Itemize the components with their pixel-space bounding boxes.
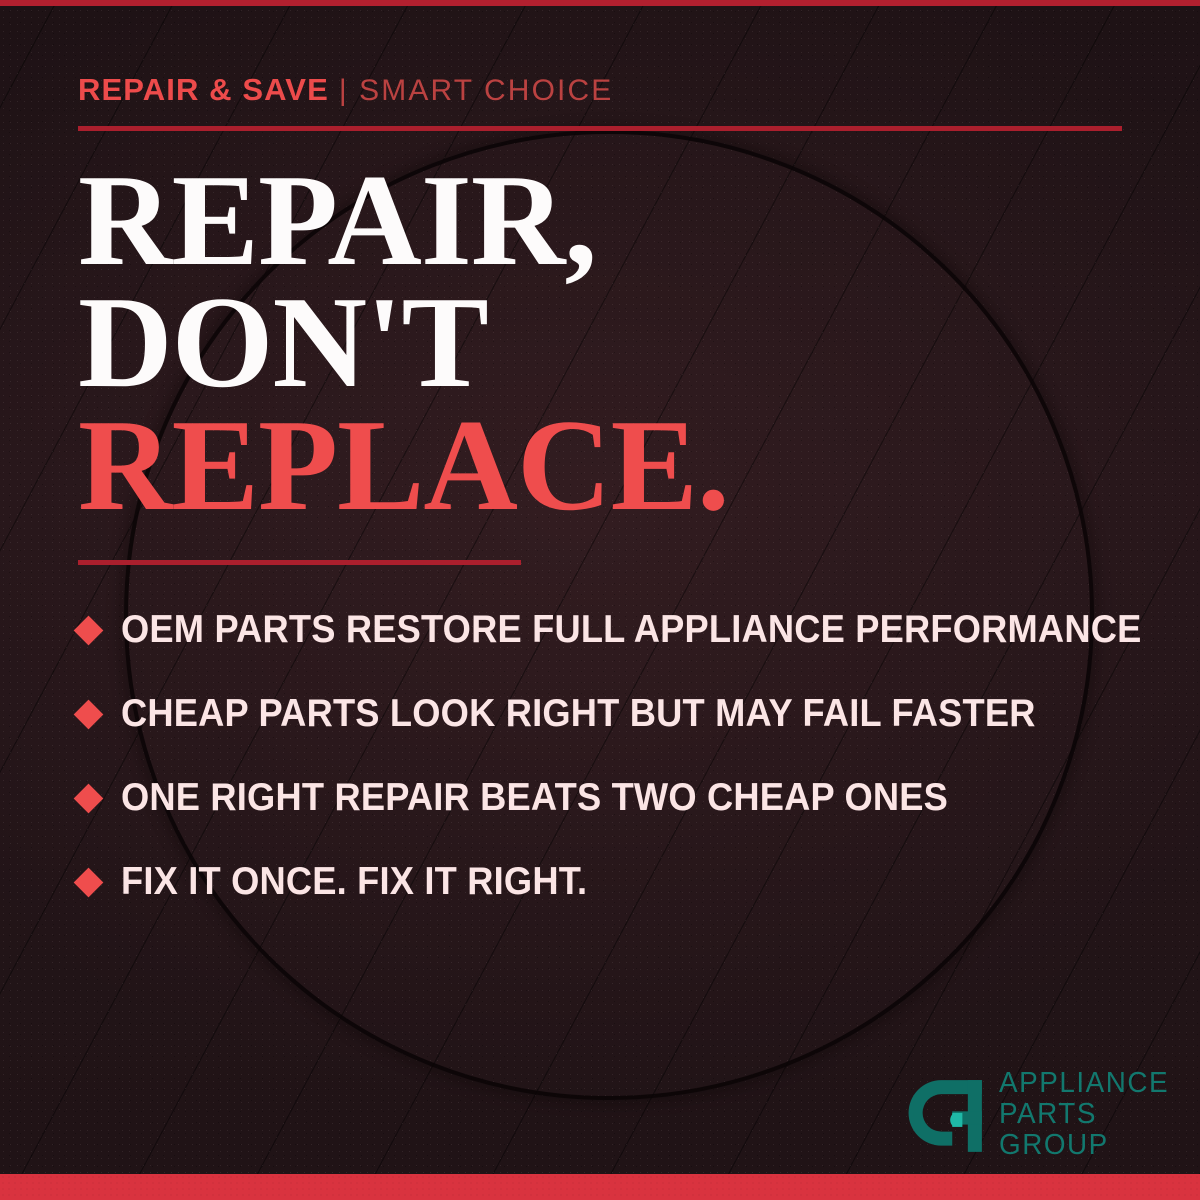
benefit-list: OEM PARTS RESTORE FULL APPLIANCE PERFORM… [78, 588, 1168, 924]
headline-line-2: DON'T [78, 282, 1138, 404]
kicker-light-text: | SMART CHOICE [339, 74, 613, 107]
g-monogram-icon [907, 1077, 985, 1155]
list-item-label: FIX IT ONCE. FIX IT RIGHT. [121, 860, 587, 904]
top-accent-bar [0, 0, 1200, 6]
list-item-label: OEM PARTS RESTORE FULL APPLIANCE PERFORM… [121, 608, 1141, 652]
bottom-accent-bar [0, 1174, 1200, 1200]
headline-line-3: REPLACE. [78, 405, 1138, 527]
list-item-label: ONE RIGHT REPAIR BEATS TWO CHEAP ONES [121, 776, 948, 820]
diamond-icon [74, 867, 104, 897]
bottom-accent-bar-texture [0, 1174, 1200, 1200]
list-item: OEM PARTS RESTORE FULL APPLIANCE PERFORM… [78, 588, 1168, 672]
kicker-strong-text: REPAIR & SAVE [78, 72, 329, 107]
list-item: ONE RIGHT REPAIR BEATS TWO CHEAP ONES [78, 756, 1168, 840]
header-divider-rule [78, 126, 1122, 131]
brand-logo-line-1: APPLIANCE [999, 1069, 1169, 1100]
list-item-label: CHEAP PARTS LOOK RIGHT BUT MAY FAIL FAST… [121, 692, 1036, 736]
promo-poster: REPAIR & SAVE| SMART CHOICE REPAIR, DON'… [0, 0, 1200, 1200]
section-divider-rule [78, 560, 521, 565]
brand-logo-line-2: PARTS [999, 1100, 1169, 1131]
brand-logo: APPLIANCE PARTS GROUP [907, 1069, 1176, 1162]
list-item: FIX IT ONCE. FIX IT RIGHT. [78, 840, 1168, 924]
brand-logo-line-3: GROUP [999, 1131, 1169, 1162]
headline-line-1: REPAIR, [78, 160, 1138, 282]
diamond-icon [74, 783, 104, 813]
headline: REPAIR, DON'T REPLACE. [78, 160, 1138, 527]
list-item: CHEAP PARTS LOOK RIGHT BUT MAY FAIL FAST… [78, 672, 1168, 756]
diamond-icon [74, 699, 104, 729]
kicker: REPAIR & SAVE| SMART CHOICE [78, 74, 613, 106]
brand-logo-wordmark: APPLIANCE PARTS GROUP [999, 1069, 1176, 1162]
diamond-icon [74, 615, 104, 645]
